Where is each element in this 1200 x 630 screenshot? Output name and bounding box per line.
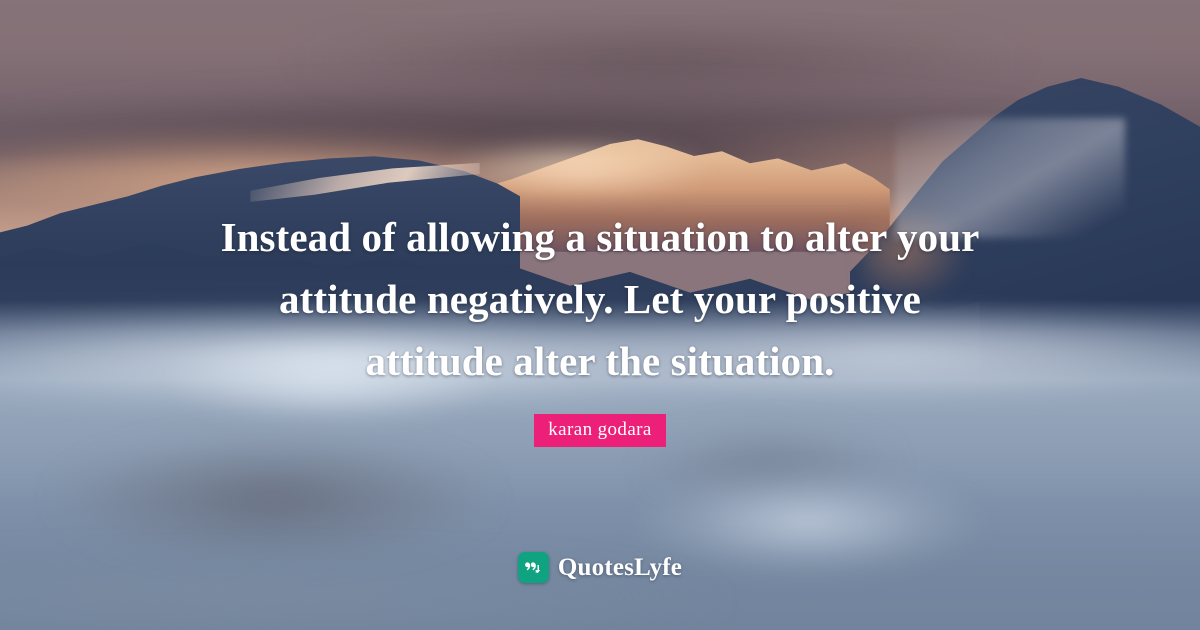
- quote-line-1: Instead of allowing a situation to alter…: [70, 206, 1130, 268]
- brand-watermark[interactable]: QuotesLyfe: [0, 552, 1200, 583]
- quote-line-3: attitude alter the situation.: [70, 330, 1130, 392]
- quote-mark-icon: [518, 552, 549, 583]
- quote-text: Instead of allowing a situation to alter…: [70, 0, 1130, 447]
- brand-name: QuotesLyfe: [558, 554, 682, 581]
- author-attribution: karan godara: [70, 414, 1130, 447]
- author-badge[interactable]: karan godara: [534, 414, 665, 447]
- card-content: Instead of allowing a situation to alter…: [0, 0, 1200, 630]
- quote-card: Instead of allowing a situation to alter…: [0, 0, 1200, 630]
- quote-line-2: attitude negatively. Let your positive: [70, 268, 1130, 330]
